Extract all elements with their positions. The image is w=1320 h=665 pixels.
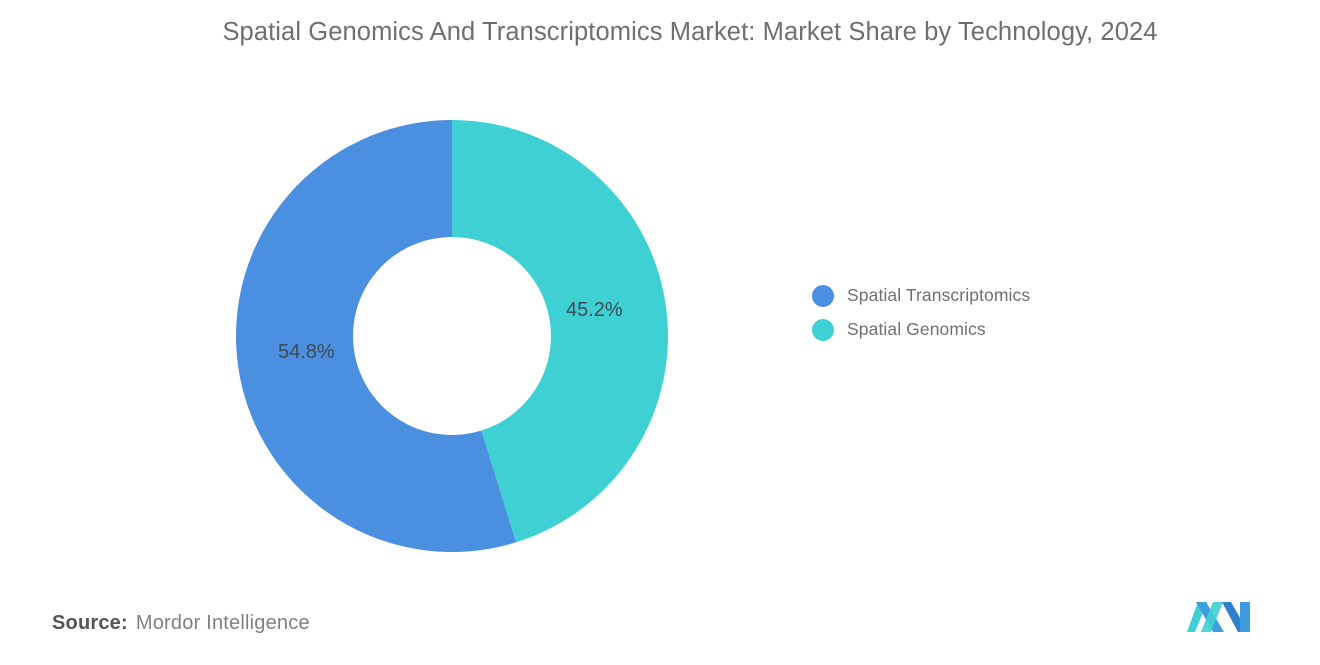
legend-swatch-icon xyxy=(812,319,834,341)
data-label-spatial-transcriptomics: 54.8% xyxy=(278,341,335,364)
legend-item-spatial-genomics[interactable]: Spatial Genomics xyxy=(812,317,1030,342)
source-label: Source: xyxy=(52,612,128,635)
chart-legend: Spatial Transcriptomics Spatial Genomics xyxy=(812,283,1030,342)
legend-label: Spatial Transcriptomics xyxy=(847,285,1030,306)
page-title: Spatial Genomics And Transcriptomics Mar… xyxy=(160,12,1220,53)
legend-label: Spatial Genomics xyxy=(847,319,986,340)
legend-item-spatial-transcriptomics[interactable]: Spatial Transcriptomics xyxy=(812,283,1030,308)
donut-chart-svg xyxy=(236,120,668,552)
donut-chart: 54.8% 45.2% xyxy=(236,120,668,552)
logo-svg xyxy=(1186,598,1254,638)
source-line: Source: Mordor Intelligence xyxy=(52,612,310,635)
legend-swatch-icon xyxy=(812,285,834,307)
chart-page: Spatial Genomics And Transcriptomics Mar… xyxy=(0,0,1320,665)
data-label-spatial-genomics: 45.2% xyxy=(566,299,623,322)
mordor-intelligence-logo-icon xyxy=(1186,598,1254,638)
source-value: Mordor Intelligence xyxy=(136,612,310,635)
